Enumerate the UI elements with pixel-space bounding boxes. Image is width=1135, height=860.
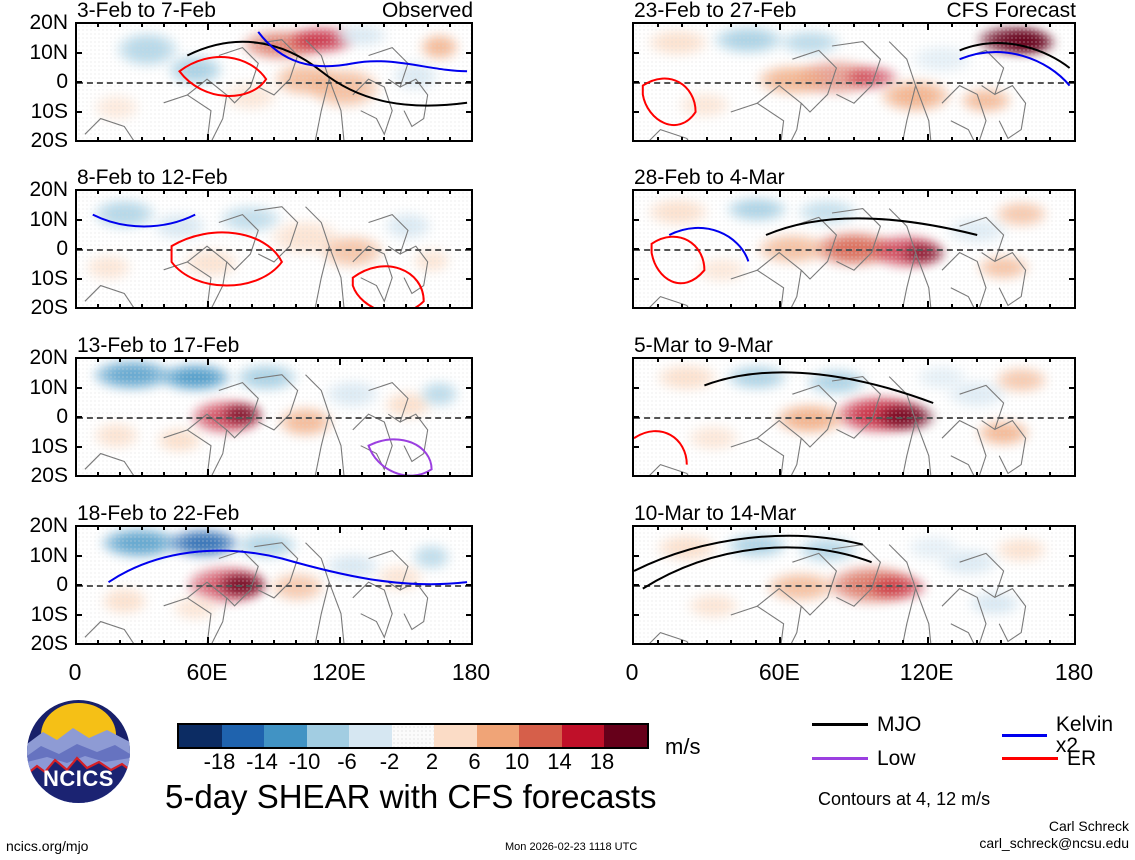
y-axis-label: 10S bbox=[0, 268, 68, 289]
axis-tick bbox=[1000, 137, 1002, 142]
axis-tick bbox=[878, 22, 880, 27]
axis-tick bbox=[828, 189, 830, 194]
colorbar bbox=[177, 723, 649, 749]
axis-tick bbox=[1069, 248, 1076, 250]
axis-tick bbox=[1000, 189, 1002, 194]
axis-tick bbox=[185, 189, 187, 194]
axis-tick bbox=[927, 357, 929, 365]
axis-tick bbox=[185, 472, 187, 477]
axis-tick bbox=[466, 387, 473, 389]
axis-tick bbox=[361, 137, 363, 142]
wave-contour-overlay bbox=[77, 191, 471, 309]
axis-tick bbox=[804, 357, 806, 362]
wave-contour-overlay bbox=[77, 527, 471, 645]
axis-tick bbox=[902, 189, 904, 194]
axis-tick bbox=[141, 304, 143, 309]
axis-tick bbox=[163, 304, 165, 309]
axis-tick bbox=[632, 416, 639, 418]
y-axis-label: 0 bbox=[0, 71, 68, 92]
axis-tick bbox=[466, 22, 473, 24]
axis-tick bbox=[902, 472, 904, 477]
axis-tick bbox=[804, 189, 806, 194]
axis-tick bbox=[405, 304, 407, 309]
axis-tick bbox=[383, 640, 385, 645]
axis-tick bbox=[295, 137, 297, 142]
axis-tick bbox=[119, 640, 121, 645]
axis-tick bbox=[466, 278, 473, 280]
panel-title: 13-Feb to 17-Feb bbox=[77, 335, 239, 356]
x-axis-label: 60E bbox=[749, 661, 809, 684]
axis-tick bbox=[779, 22, 781, 30]
axis-tick bbox=[730, 189, 732, 194]
axis-tick bbox=[755, 525, 757, 530]
axis-tick bbox=[632, 357, 639, 359]
axis-tick bbox=[927, 637, 929, 645]
axis-tick bbox=[927, 134, 929, 142]
axis-tick bbox=[317, 22, 319, 27]
axis-tick bbox=[632, 189, 639, 191]
axis-tick bbox=[755, 472, 757, 477]
panel-title: 5-Mar to 9-Mar bbox=[634, 335, 773, 356]
logo-text: NCICS bbox=[27, 766, 130, 792]
axis-tick bbox=[466, 81, 473, 83]
axis-tick bbox=[976, 357, 978, 362]
y-axis-label: 10S bbox=[0, 604, 68, 625]
axis-tick bbox=[97, 640, 99, 645]
axis-tick bbox=[427, 525, 429, 530]
axis-tick bbox=[951, 357, 953, 362]
axis-tick bbox=[681, 22, 683, 27]
axis-tick bbox=[75, 387, 82, 389]
axis-tick bbox=[251, 640, 253, 645]
axis-tick bbox=[804, 472, 806, 477]
axis-tick bbox=[779, 301, 781, 309]
axis-tick bbox=[632, 278, 639, 280]
axis-tick bbox=[1069, 81, 1076, 83]
axis-tick bbox=[706, 357, 708, 362]
axis-tick bbox=[466, 140, 473, 142]
x-axis-label: 180 bbox=[441, 661, 501, 684]
y-axis-label: 20N bbox=[0, 179, 68, 200]
axis-tick bbox=[273, 525, 275, 530]
site-url[interactable]: ncics.org/mjo bbox=[6, 838, 88, 854]
axis-tick bbox=[317, 304, 319, 309]
colorbar-unit-label: m/s bbox=[665, 734, 700, 760]
axis-tick bbox=[1000, 640, 1002, 645]
axis-tick bbox=[1049, 472, 1051, 477]
axis-tick bbox=[632, 52, 639, 54]
axis-tick bbox=[730, 472, 732, 477]
axis-tick bbox=[97, 22, 99, 27]
axis-tick bbox=[657, 357, 659, 362]
axis-tick bbox=[706, 304, 708, 309]
axis-tick bbox=[229, 22, 231, 27]
axis-tick bbox=[632, 307, 639, 309]
axis-tick bbox=[804, 22, 806, 27]
x-axis-label: 0 bbox=[45, 661, 105, 684]
colorbar-segment bbox=[519, 725, 562, 747]
axis-tick bbox=[1069, 219, 1076, 221]
axis-tick bbox=[229, 525, 231, 530]
colorbar-tick: 18 bbox=[581, 749, 624, 775]
axis-tick bbox=[951, 472, 953, 477]
axis-tick bbox=[251, 137, 253, 142]
axis-tick bbox=[1025, 357, 1027, 362]
axis-tick bbox=[229, 304, 231, 309]
axis-tick bbox=[97, 357, 99, 362]
map-plot-area bbox=[632, 525, 1076, 645]
axis-tick bbox=[706, 137, 708, 142]
axis-tick bbox=[878, 189, 880, 194]
y-axis-label: 20S bbox=[0, 297, 68, 318]
axis-tick bbox=[779, 189, 781, 197]
axis-tick bbox=[163, 22, 165, 27]
axis-tick bbox=[317, 189, 319, 194]
axis-tick bbox=[449, 640, 451, 645]
axis-tick bbox=[853, 640, 855, 645]
axis-tick bbox=[207, 189, 209, 197]
axis-tick bbox=[383, 525, 385, 530]
axis-tick bbox=[730, 640, 732, 645]
wave-contour-overlay bbox=[634, 191, 1074, 309]
colorbar-tick: -18 bbox=[198, 749, 241, 775]
axis-tick bbox=[185, 137, 187, 142]
axis-tick bbox=[466, 446, 473, 448]
axis-tick bbox=[295, 22, 297, 27]
panel-title: 28-Feb to 4-Mar bbox=[634, 167, 785, 188]
axis-tick bbox=[466, 614, 473, 616]
axis-tick bbox=[449, 472, 451, 477]
axis-tick bbox=[75, 189, 82, 191]
colorbar-tick: -14 bbox=[241, 749, 284, 775]
axis-tick bbox=[427, 640, 429, 645]
axis-tick bbox=[632, 475, 639, 477]
axis-tick bbox=[657, 189, 659, 194]
axis-tick bbox=[681, 640, 683, 645]
axis-tick bbox=[163, 137, 165, 142]
axis-tick bbox=[902, 640, 904, 645]
colorbar-segment bbox=[604, 725, 647, 747]
axis-tick bbox=[632, 81, 639, 83]
axis-tick bbox=[951, 22, 953, 27]
axis-tick bbox=[163, 525, 165, 530]
axis-tick bbox=[632, 22, 639, 24]
axis-tick bbox=[251, 304, 253, 309]
legend-label: ER bbox=[1067, 748, 1096, 769]
colorbar-segment bbox=[392, 725, 435, 747]
axis-tick bbox=[75, 525, 82, 527]
axis-tick bbox=[976, 137, 978, 142]
column-header-observed: Observed bbox=[75, 0, 473, 21]
colorbar-tick-labels: -18-14-10-6-226101418 bbox=[177, 749, 602, 775]
author-name: Carl Schreck bbox=[979, 818, 1129, 835]
axis-tick bbox=[295, 189, 297, 194]
axis-tick bbox=[779, 469, 781, 477]
axis-tick bbox=[317, 525, 319, 530]
axis-tick bbox=[427, 472, 429, 477]
axis-tick bbox=[361, 22, 363, 27]
axis-tick bbox=[185, 525, 187, 530]
axis-tick bbox=[229, 357, 231, 362]
axis-tick bbox=[657, 304, 659, 309]
axis-tick bbox=[119, 525, 121, 530]
axis-tick bbox=[339, 189, 341, 197]
axis-tick bbox=[207, 469, 209, 477]
axis-tick bbox=[251, 472, 253, 477]
axis-tick bbox=[951, 304, 953, 309]
axis-tick bbox=[755, 640, 757, 645]
axis-tick bbox=[1069, 307, 1076, 309]
axis-tick bbox=[1049, 640, 1051, 645]
axis-tick bbox=[97, 472, 99, 477]
axis-tick bbox=[119, 357, 121, 362]
axis-tick bbox=[449, 525, 451, 530]
axis-tick bbox=[361, 189, 363, 194]
axis-tick bbox=[361, 357, 363, 362]
axis-tick bbox=[951, 525, 953, 530]
axis-tick bbox=[383, 137, 385, 142]
axis-tick bbox=[163, 640, 165, 645]
wave-contour-overlay bbox=[77, 359, 471, 477]
axis-tick bbox=[632, 111, 639, 113]
ncics-logo: NCICS bbox=[27, 700, 130, 803]
colorbar-segment bbox=[264, 725, 307, 747]
axis-tick bbox=[229, 189, 231, 194]
colorbar-segment bbox=[349, 725, 392, 747]
axis-tick bbox=[339, 134, 341, 142]
axis-tick bbox=[1025, 137, 1027, 142]
axis-tick bbox=[466, 307, 473, 309]
wave-contour-overlay bbox=[77, 24, 471, 142]
axis-tick bbox=[976, 640, 978, 645]
axis-tick bbox=[730, 137, 732, 142]
panel-title: 10-Mar to 14-Mar bbox=[634, 503, 796, 524]
axis-tick bbox=[75, 357, 82, 359]
axis-tick bbox=[657, 472, 659, 477]
axis-tick bbox=[163, 357, 165, 362]
axis-tick bbox=[657, 137, 659, 142]
axis-tick bbox=[779, 525, 781, 533]
axis-tick bbox=[251, 22, 253, 27]
axis-tick bbox=[681, 472, 683, 477]
axis-tick bbox=[1025, 304, 1027, 309]
axis-tick bbox=[75, 248, 82, 250]
y-axis-label: 0 bbox=[0, 238, 68, 259]
axis-tick bbox=[878, 525, 880, 530]
axis-tick bbox=[657, 525, 659, 530]
axis-tick bbox=[779, 357, 781, 365]
axis-tick bbox=[1069, 111, 1076, 113]
colorbar-tick: -10 bbox=[283, 749, 326, 775]
axis-tick bbox=[1025, 189, 1027, 194]
axis-tick bbox=[755, 189, 757, 194]
axis-tick bbox=[1000, 357, 1002, 362]
axis-tick bbox=[706, 189, 708, 194]
y-axis-label: 10N bbox=[0, 545, 68, 566]
axis-tick bbox=[405, 189, 407, 194]
axis-tick bbox=[75, 416, 82, 418]
axis-tick bbox=[706, 640, 708, 645]
axis-tick bbox=[163, 189, 165, 194]
y-axis-label: 10S bbox=[0, 436, 68, 457]
axis-tick bbox=[229, 137, 231, 142]
axis-tick bbox=[706, 525, 708, 530]
axis-tick bbox=[185, 640, 187, 645]
x-axis-label: 120E bbox=[309, 661, 369, 684]
axis-tick bbox=[681, 304, 683, 309]
axis-tick bbox=[1069, 643, 1076, 645]
axis-tick bbox=[1069, 584, 1076, 586]
axis-tick bbox=[828, 304, 830, 309]
axis-tick bbox=[779, 637, 781, 645]
map-plot-area bbox=[632, 189, 1076, 309]
author-email[interactable]: carl_schreck@ncsu.edu bbox=[979, 835, 1129, 852]
axis-tick bbox=[1049, 22, 1051, 27]
axis-tick bbox=[976, 304, 978, 309]
wave-contour-overlay bbox=[634, 24, 1074, 142]
colorbar-segment bbox=[562, 725, 605, 747]
author-credit: Carl Schreck carl_schreck@ncsu.edu bbox=[979, 818, 1129, 852]
axis-tick bbox=[1000, 472, 1002, 477]
axis-tick bbox=[730, 22, 732, 27]
colorbar-segment bbox=[179, 725, 222, 747]
axis-tick bbox=[361, 304, 363, 309]
axis-tick bbox=[632, 614, 639, 616]
axis-tick bbox=[878, 357, 880, 362]
axis-tick bbox=[119, 304, 121, 309]
axis-tick bbox=[681, 189, 683, 194]
axis-tick bbox=[75, 81, 82, 83]
axis-tick bbox=[339, 22, 341, 30]
axis-tick bbox=[466, 111, 473, 113]
axis-tick bbox=[229, 640, 231, 645]
axis-tick bbox=[97, 189, 99, 194]
axis-tick bbox=[141, 357, 143, 362]
axis-tick bbox=[730, 525, 732, 530]
axis-tick bbox=[119, 472, 121, 477]
axis-tick bbox=[75, 446, 82, 448]
axis-tick bbox=[383, 304, 385, 309]
axis-tick bbox=[317, 357, 319, 362]
axis-tick bbox=[273, 137, 275, 142]
legend-item-er: ER bbox=[1002, 748, 1096, 769]
y-axis-label: 20S bbox=[0, 633, 68, 654]
axis-tick bbox=[317, 137, 319, 142]
axis-tick bbox=[657, 640, 659, 645]
x-axis-label: 0 bbox=[602, 661, 662, 684]
axis-tick bbox=[828, 472, 830, 477]
axis-tick bbox=[466, 525, 473, 527]
wave-contour-overlay bbox=[634, 359, 1074, 477]
axis-tick bbox=[405, 137, 407, 142]
axis-tick bbox=[427, 357, 429, 362]
axis-tick bbox=[632, 555, 639, 557]
axis-tick bbox=[828, 525, 830, 530]
axis-tick bbox=[141, 137, 143, 142]
y-axis-label: 10N bbox=[0, 209, 68, 230]
axis-tick bbox=[1069, 22, 1076, 24]
axis-tick bbox=[361, 472, 363, 477]
axis-tick bbox=[339, 301, 341, 309]
axis-tick bbox=[632, 387, 639, 389]
colorbar-segment bbox=[307, 725, 350, 747]
y-axis-label: 10N bbox=[0, 42, 68, 63]
axis-tick bbox=[878, 472, 880, 477]
axis-tick bbox=[1025, 640, 1027, 645]
axis-tick bbox=[75, 584, 82, 586]
axis-tick bbox=[828, 22, 830, 27]
axis-tick bbox=[466, 219, 473, 221]
axis-tick bbox=[804, 304, 806, 309]
axis-tick bbox=[755, 304, 757, 309]
axis-tick bbox=[141, 189, 143, 194]
legend-item-low: Low bbox=[812, 748, 916, 769]
map-plot-area bbox=[75, 189, 473, 309]
axis-tick bbox=[1069, 357, 1076, 359]
axis-tick bbox=[1025, 472, 1027, 477]
colorbar-tick: -6 bbox=[326, 749, 369, 775]
axis-tick bbox=[853, 189, 855, 194]
axis-tick bbox=[383, 22, 385, 27]
axis-tick bbox=[273, 640, 275, 645]
axis-tick bbox=[632, 248, 639, 250]
axis-tick bbox=[207, 134, 209, 142]
axis-tick bbox=[853, 472, 855, 477]
axis-tick bbox=[75, 307, 82, 309]
axis-tick bbox=[632, 584, 639, 586]
axis-tick bbox=[632, 643, 639, 645]
axis-tick bbox=[804, 640, 806, 645]
axis-tick bbox=[902, 22, 904, 27]
axis-tick bbox=[207, 525, 209, 533]
axis-tick bbox=[207, 357, 209, 365]
axis-tick bbox=[657, 22, 659, 27]
map-plot-area bbox=[632, 357, 1076, 477]
timestamp: Mon 2026-02-23 1118 UTC bbox=[505, 841, 637, 853]
axis-tick bbox=[273, 472, 275, 477]
axis-tick bbox=[141, 525, 143, 530]
axis-tick bbox=[405, 357, 407, 362]
axis-tick bbox=[1069, 555, 1076, 557]
axis-tick bbox=[75, 22, 82, 24]
axis-tick bbox=[119, 137, 121, 142]
axis-tick bbox=[466, 555, 473, 557]
axis-tick bbox=[1025, 525, 1027, 530]
axis-tick bbox=[75, 475, 82, 477]
axis-tick bbox=[295, 640, 297, 645]
axis-tick bbox=[339, 357, 341, 365]
axis-tick bbox=[207, 22, 209, 30]
axis-tick bbox=[1069, 416, 1076, 418]
colorbar-tick: 14 bbox=[538, 749, 581, 775]
axis-tick bbox=[466, 584, 473, 586]
axis-tick bbox=[361, 525, 363, 530]
axis-tick bbox=[828, 357, 830, 362]
axis-tick bbox=[251, 189, 253, 194]
axis-tick bbox=[295, 525, 297, 530]
axis-tick bbox=[927, 301, 929, 309]
colorbar-segment bbox=[434, 725, 477, 747]
axis-tick bbox=[141, 640, 143, 645]
axis-tick bbox=[295, 472, 297, 477]
axis-tick bbox=[927, 189, 929, 197]
axis-tick bbox=[273, 304, 275, 309]
axis-tick bbox=[755, 22, 757, 27]
panel-title: 8-Feb to 12-Feb bbox=[77, 167, 228, 188]
axis-tick bbox=[853, 357, 855, 362]
axis-tick bbox=[927, 525, 929, 533]
axis-tick bbox=[878, 137, 880, 142]
